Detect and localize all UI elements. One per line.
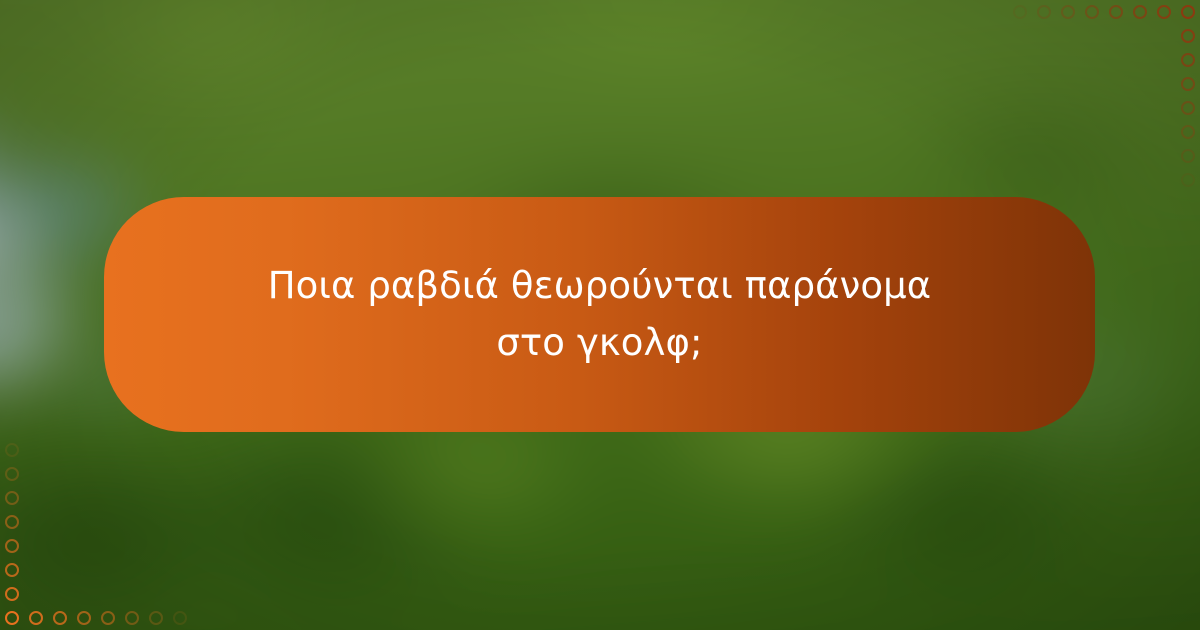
question-text: Ποια ραβδιά θεωρούνται παράνομα στο γκολ… — [250, 258, 950, 370]
quiz-card-image: Ποια ραβδιά θεωρούνται παράνομα στο γκολ… — [0, 0, 1200, 630]
question-card: Ποια ραβδιά θεωρούνται παράνομα στο γκολ… — [104, 197, 1095, 432]
